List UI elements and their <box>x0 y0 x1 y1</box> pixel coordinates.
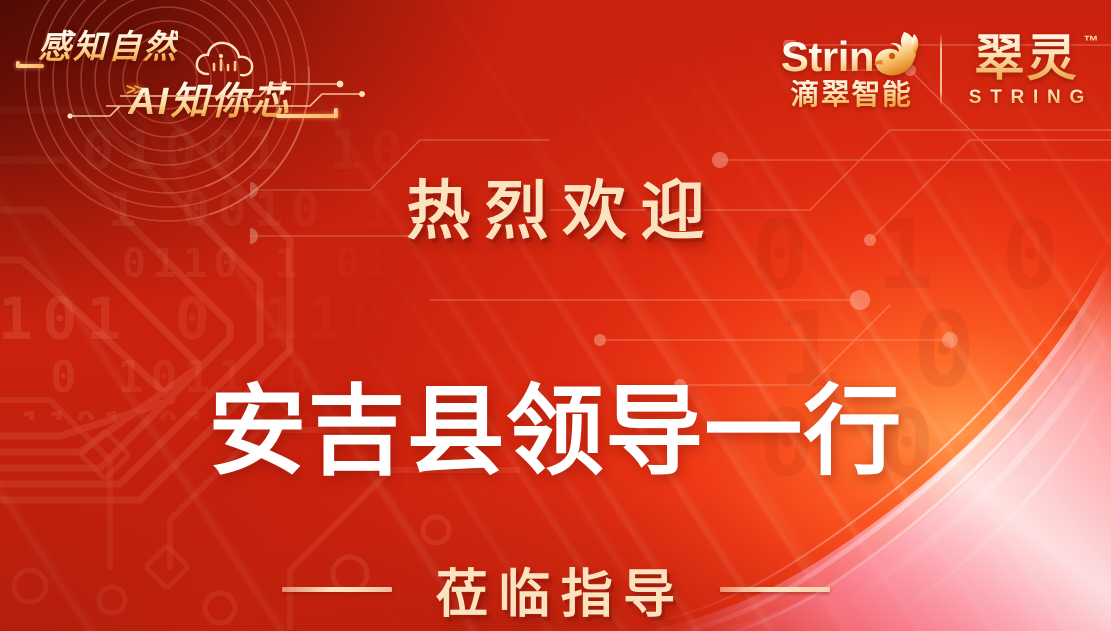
string-brand-column: Strin <box>781 30 922 110</box>
welcome-heading: 热烈欢迎 <box>0 160 1111 252</box>
slogan-line-1: 感知自然 <box>38 20 178 68</box>
cuiling-brand-column: 翠灵 ™ STRING <box>960 33 1093 107</box>
string-wordmark-text: Strin <box>781 36 874 78</box>
cuiling-logotype: 翠灵 <box>975 33 1079 83</box>
rule-left <box>282 587 392 592</box>
rule-right <box>720 587 830 592</box>
trademark-icon: ™ <box>1084 33 1099 50</box>
subtitle-row: 莅临指导 <box>0 552 1111 627</box>
brand-lockup-right: Strin <box>781 20 1093 120</box>
cuiling-logotype-wrap: 翠灵 ™ <box>975 33 1079 83</box>
welcome-banner: 01001 1010 0110 1 0010 1101 01 0110 1 01… <box>0 0 1111 631</box>
slogan-tail-cap-left <box>16 61 20 68</box>
brand-divider <box>940 33 942 107</box>
string-latin-wordmark: STRING <box>960 88 1093 107</box>
guest-title: 安吉县领导一行 <box>0 352 1111 494</box>
bird-flame-icon <box>870 30 922 80</box>
subtitle-text: 莅临指导 <box>426 552 686 627</box>
brand-lockup-left: 感知自然 >> AI知你芯 <box>8 18 378 128</box>
string-wordmark-cn: 滴翠智能 <box>791 80 913 110</box>
string-wordmark: Strin <box>781 30 922 78</box>
logo-circuit-traces <box>10 76 378 134</box>
